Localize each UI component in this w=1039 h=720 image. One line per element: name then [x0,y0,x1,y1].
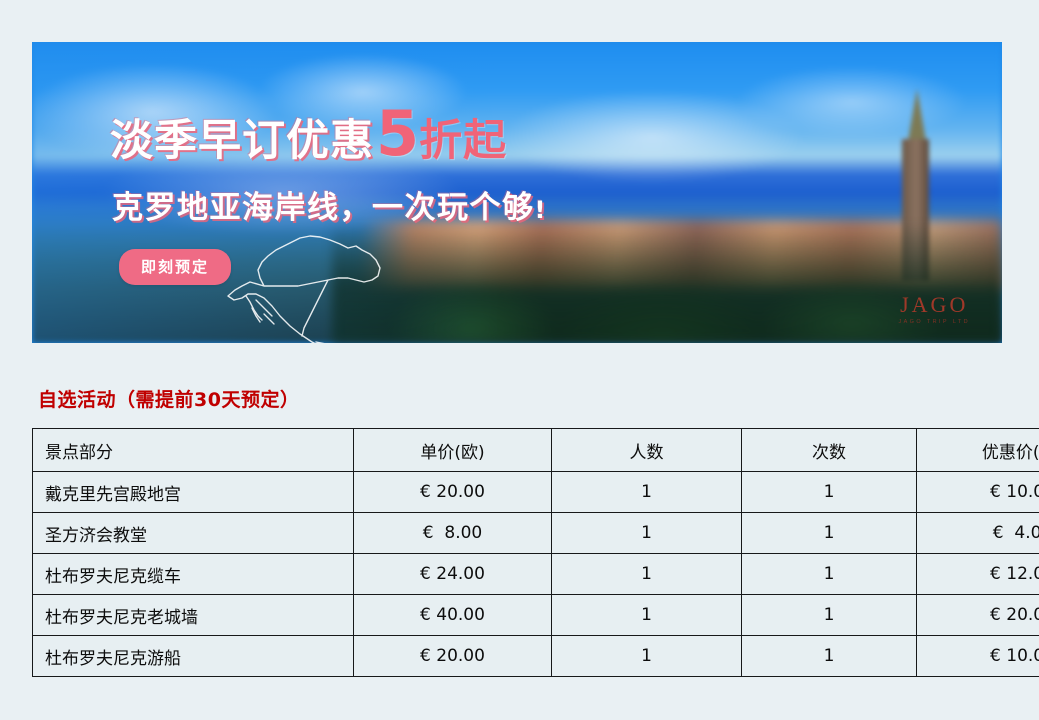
cell-times: 1 [742,636,917,677]
banner-subline: 克罗地亚海岸线，一次玩个够! [112,182,547,227]
cell-price: € 20.00 [354,472,552,513]
table-row[interactable]: 戴克里先宫殿地宫 € 20.00 1 1 € 10.00 [33,472,1039,513]
cell-name: 杜布罗夫尼克游船 [33,636,354,677]
cell-pax: 1 [552,595,742,636]
cell-pax: 1 [552,554,742,595]
cell-times: 1 [742,554,917,595]
jago-logo-word: JAGO [898,294,970,316]
cell-discount: € 12.00 [917,554,1039,595]
table-body: 戴克里先宫殿地宫 € 20.00 1 1 € 10.00 圣方济会教堂 € 8.… [33,472,1039,677]
promo-banner[interactable]: 淡季早订优惠 5 折起 克罗地亚海岸线，一次玩个够! 即刻预定 JAGO JAG… [32,42,1002,343]
cell-pax: 1 [552,636,742,677]
optional-activities-table: 景点部分 单价(欧) 人数 次数 优惠价(欧) 戴克里先宫殿地宫 € 20.00… [32,428,1039,677]
banner-headline: 淡季早订优惠 5 折起 [110,106,507,168]
cell-discount: € 4.00 [917,513,1039,554]
jago-logo: JAGO JAGO TRIP LTD [898,294,970,325]
cell-name: 杜布罗夫尼克缆车 [33,554,354,595]
headline-main-text: 淡季早订优惠 [110,106,374,168]
cell-pax: 1 [552,472,742,513]
table-row[interactable]: 杜布罗夫尼克缆车 € 24.00 1 1 € 12.00 [33,554,1039,595]
cell-discount: € 20.00 [917,595,1039,636]
croatia-map-icon [220,224,430,343]
column-header-pax: 人数 [552,429,742,472]
cell-price: € 24.00 [354,554,552,595]
cell-name: 杜布罗夫尼克老城墙 [33,595,354,636]
headline-discount-suffix: 折起 [419,106,507,168]
cell-discount: € 10.00 [917,472,1039,513]
cell-price: € 40.00 [354,595,552,636]
banner-subline-exclamation: ! [535,196,547,224]
cell-price: € 8.00 [354,513,552,554]
table-row[interactable]: 圣方济会教堂 € 8.00 1 1 € 4.00 [33,513,1039,554]
book-now-button[interactable]: 即刻预定 [119,249,231,285]
cell-times: 1 [742,513,917,554]
cell-name: 圣方济会教堂 [33,513,354,554]
cell-times: 1 [742,595,917,636]
column-header-price: 单价(欧) [354,429,552,472]
table-row[interactable]: 杜布罗夫尼克游船 € 20.00 1 1 € 10.00 [33,636,1039,677]
cell-price: € 20.00 [354,636,552,677]
cell-times: 1 [742,472,917,513]
table-row[interactable]: 杜布罗夫尼克老城墙 € 40.00 1 1 € 20.00 [33,595,1039,636]
cell-pax: 1 [552,513,742,554]
banner-subline-text: 克罗地亚海岸线，一次玩个够 [112,190,535,226]
section-title: 自选活动（需提前30天预定） [38,385,299,412]
column-header-name: 景点部分 [33,429,354,472]
column-header-times: 次数 [742,429,917,472]
table-header-row: 景点部分 单价(欧) 人数 次数 优惠价(欧) [33,429,1039,472]
headline-discount-number: 5 [376,109,419,159]
column-header-discount: 优惠价(欧) [917,429,1039,472]
cell-name: 戴克里先宫殿地宫 [33,472,354,513]
cell-discount: € 10.00 [917,636,1039,677]
jago-logo-subtitle: JAGO TRIP LTD [898,319,970,325]
